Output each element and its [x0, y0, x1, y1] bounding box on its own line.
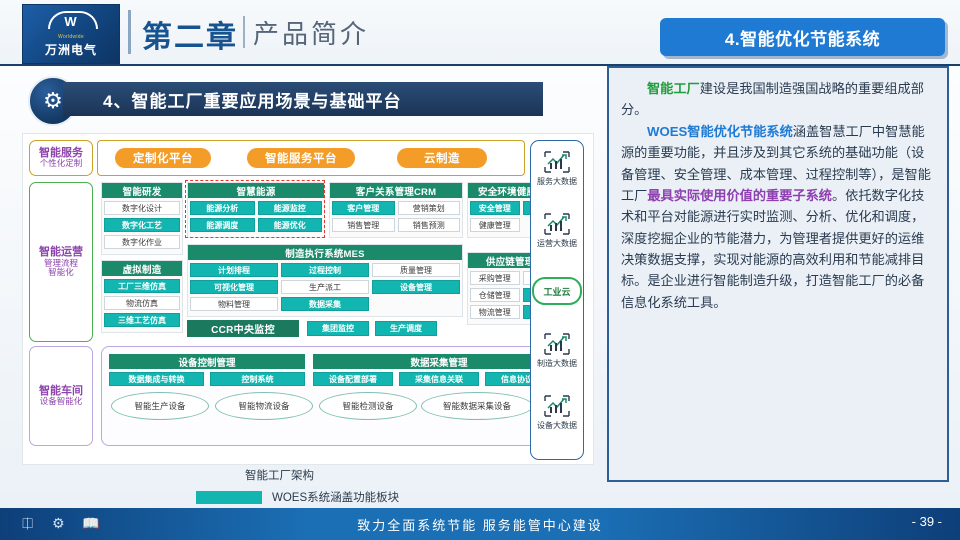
p2-highlight-purple: 最具实际使用价值的重要子系统	[647, 188, 832, 203]
device-oval[interactable]: 智能生产设备	[111, 392, 209, 420]
cell-label: 数据采集	[309, 299, 341, 310]
legend-label: WOES系统涵盖功能板块	[272, 489, 399, 505]
cell[interactable]: 数据采集	[281, 297, 369, 311]
rail-item-5[interactable]: 设备大数据	[531, 393, 583, 431]
cell[interactable]: 营销策划	[398, 201, 461, 215]
cell[interactable]: 数字化作业	[104, 235, 180, 249]
cell[interactable]: 可视化管理	[190, 280, 278, 294]
shop-cell-label: 采集信息关联	[415, 374, 463, 385]
cell[interactable]: 物料管理	[190, 297, 278, 311]
shop-cell-label: 数据集成与转换	[129, 374, 185, 385]
rail-item-2[interactable]: 运营大数据	[531, 211, 583, 249]
card-5: 制造执行系统MES计划排程过程控制质量管理可视化管理生产派工设备管理物料管理数据…	[187, 244, 463, 317]
card-0: 智能研发数字化设计数字化工艺数字化作业	[101, 182, 183, 255]
cell-label: 质量管理	[400, 265, 432, 276]
cell-label: 采购管理	[479, 273, 511, 284]
cell-label: 客户管理	[347, 203, 379, 214]
description-panel: 智能工厂建设是我国制造强国战略的重要组成部分。 WOES智能优化节能系统涵盖智慧…	[607, 66, 949, 482]
platform-pill-1[interactable]: 定制化平台	[115, 148, 211, 168]
level-sub: 设备智能化	[40, 397, 83, 407]
card-title: 制造执行系统MES	[285, 246, 364, 260]
shop-cell[interactable]: 设备配置部署	[313, 372, 393, 386]
section-heading-label: 4、智能工厂重要应用场景与基础平台	[103, 87, 401, 112]
rail-item-3[interactable]: 工业云	[531, 277, 583, 305]
card-title: 客户关系管理CRM	[356, 184, 436, 198]
legend-swatch	[196, 491, 262, 504]
big-data-rail: 服务大数据运营大数据工业云制造大数据设备大数据	[530, 140, 584, 460]
cell-label: 可视化管理	[214, 282, 254, 293]
rail-item-4[interactable]: 制造大数据	[531, 331, 583, 369]
card-title: 智能研发	[123, 184, 162, 198]
logo-english: Worldwide	[58, 34, 84, 40]
logo-mark-icon: W	[48, 11, 94, 33]
cell[interactable]: 设备管理	[372, 280, 460, 294]
device-oval[interactable]: 智能检测设备	[319, 392, 417, 420]
cell-label: 计划排程	[218, 265, 250, 276]
device-oval-label: 智能检测设备	[342, 400, 393, 412]
rail-item-label: 制造大数据	[537, 358, 577, 369]
bar-chart-icon	[542, 149, 572, 175]
cell[interactable]: 三维工艺仿真	[104, 313, 180, 327]
rail-item-label: 运营大数据	[537, 238, 577, 249]
cell[interactable]: 健康管理	[470, 218, 520, 232]
cell[interactable]: 销售预测	[398, 218, 461, 232]
cell-label: 物流仿真	[126, 298, 158, 309]
paragraph-2: WOES智能优化节能系统涵盖智慧工厂中智慧能源的重要功能，并且涉及到其它系统的基…	[621, 121, 935, 313]
level-label-1: 智能服务个性化定制	[29, 140, 93, 176]
platform-pill-2[interactable]: 智能服务平台	[247, 148, 355, 168]
card-header: 客户关系管理CRM	[330, 183, 462, 198]
p2-highlight-blue: WOES智能优化节能系统	[647, 124, 793, 139]
chapter-separator	[243, 16, 245, 48]
card-header: 智能研发	[102, 183, 182, 198]
smart-factory-diagram: 智能服务个性化定制智能运营管理流程智能化智能车间设备智能化定制化平台智能服务平台…	[22, 133, 594, 465]
card-1: 虚拟制造工厂三维仿真物流仿真三维工艺仿真	[101, 260, 183, 333]
cell-label: 设备管理	[400, 282, 432, 293]
device-oval-label: 智能物流设备	[238, 400, 289, 412]
card-header: 制造执行系统MES	[188, 245, 462, 260]
bar-chart-icon	[542, 211, 572, 237]
level-label-2: 智能运营管理流程智能化	[29, 182, 93, 342]
card-header: 虚拟制造	[102, 261, 182, 276]
smart-energy-highlight	[185, 180, 325, 238]
level-name: 智能运营	[39, 246, 83, 259]
ccr-cell[interactable]: 集团监控	[307, 321, 369, 336]
cell-label: 生产派工	[309, 282, 341, 293]
cell-label: 三维工艺仿真	[118, 315, 166, 326]
cell-label: 数字化工艺	[122, 220, 162, 231]
cell[interactable]: 过程控制	[281, 263, 369, 277]
device-oval-label: 智能生产设备	[134, 400, 185, 412]
device-oval[interactable]: 智能数据采集设备	[421, 392, 533, 420]
cell-label: 数字化作业	[122, 237, 162, 248]
ccr-cell[interactable]: 生产调度	[375, 321, 437, 336]
platform-pill-label: 定制化平台	[133, 150, 193, 166]
p1-highlight: 智能工厂	[647, 81, 700, 96]
cell[interactable]: 采购管理	[470, 271, 520, 285]
slide-root: W Worldwide 万洲电气 第二章 产品简介 4.智能优化节能系统 ⚙ 4…	[0, 0, 960, 540]
paragraph-1: 智能工厂建设是我国制造强国战略的重要组成部分。	[621, 78, 935, 121]
cell[interactable]: 物流仿真	[104, 296, 180, 310]
header-divider	[128, 10, 131, 54]
cell[interactable]: 物流管理	[470, 305, 520, 319]
level-sub: 智能化	[48, 268, 74, 278]
cell-label: 安全管理	[479, 203, 511, 214]
section-heading: 4、智能工厂重要应用场景与基础平台	[63, 82, 543, 116]
cell[interactable]: 销售管理	[332, 218, 395, 232]
logo-chinese: 万洲电气	[45, 41, 97, 58]
cell[interactable]: 数字化设计	[104, 201, 180, 215]
diagram-caption: 智能工厂架构	[245, 467, 314, 483]
cell[interactable]: 生产派工	[281, 280, 369, 294]
p2-text-b: 。依托数字化技术和平台对能源进行实时监测、分析、优化和调度，深度挖掘企业的节能潜…	[621, 188, 924, 310]
level-label-3: 智能车间设备智能化	[29, 346, 93, 446]
cell[interactable]: 仓储管理	[470, 288, 520, 302]
cell-label: 销售管理	[347, 220, 379, 231]
cell-label: 物流管理	[479, 307, 511, 318]
shop-title: 设备控制管理	[178, 355, 235, 369]
chapter-subtitle: 产品简介	[253, 14, 369, 51]
chapter-title: 第二章	[142, 12, 238, 56]
cell[interactable]: 工厂三维仿真	[104, 279, 180, 293]
cell[interactable]: 客户管理	[332, 201, 395, 215]
card-title: 虚拟制造	[123, 262, 162, 276]
platform-pill-3[interactable]: 云制造	[397, 148, 487, 168]
shop-cell[interactable]: 采集信息关联	[399, 372, 479, 386]
cell-label: 健康管理	[479, 220, 511, 231]
cell-label: 仓储管理	[479, 290, 511, 301]
shop-cell[interactable]: 控制系统	[210, 372, 305, 386]
ccr-cell-label: 生产调度	[390, 323, 422, 334]
ccr-title: CCR中央监控	[211, 321, 275, 336]
cell[interactable]: 数字化工艺	[104, 218, 180, 232]
cell-label: 过程控制	[309, 265, 341, 276]
shop-title: 数据采集管理	[410, 355, 467, 369]
platform-pill-label: 云制造	[424, 150, 460, 166]
topic-chip: 4.智能优化节能系统	[660, 18, 945, 56]
cell[interactable]: 质量管理	[372, 263, 460, 277]
level-sub: 个性化定制	[40, 159, 83, 169]
cell-label: 销售预测	[413, 220, 445, 231]
ccr-bar: CCR中央监控	[187, 320, 299, 337]
rail-item-label: 设备大数据	[537, 420, 577, 431]
cell-label: 工厂三维仿真	[118, 281, 166, 292]
device-oval-label: 智能数据采集设备	[443, 400, 511, 412]
cell[interactable]: 计划排程	[190, 263, 278, 277]
topic-chip-label: 4.智能优化节能系统	[725, 25, 880, 50]
cell-label: 数字化设计	[122, 203, 162, 214]
cell[interactable]: 安全管理	[470, 201, 520, 215]
rail-item-label: 服务大数据	[537, 176, 577, 187]
rail-item-1[interactable]: 服务大数据	[531, 149, 583, 187]
shop-header-0: 设备控制管理	[109, 354, 305, 369]
shop-cell-label: 设备配置部署	[329, 374, 377, 385]
bar-chart-icon	[542, 331, 572, 357]
rail-item-label: 工业云	[543, 285, 570, 298]
page-number: - 39 -	[912, 514, 942, 529]
cloud-icon: 工业云	[532, 277, 582, 305]
shop-cell[interactable]: 数据集成与转换	[109, 372, 204, 386]
cell-label: 物料管理	[218, 299, 250, 310]
shop-cell-label: 控制系统	[242, 374, 274, 385]
shop-header-1: 数据采集管理	[313, 354, 565, 369]
device-oval[interactable]: 智能物流设备	[215, 392, 313, 420]
card-3: 客户关系管理CRM客户管理营销策划销售管理销售预测	[329, 182, 463, 238]
platform-pill-label: 智能服务平台	[265, 150, 337, 166]
footer-slogan: 致力全面系统节能 服务能管中心建设	[0, 515, 960, 534]
company-logo: W Worldwide 万洲电气	[22, 4, 120, 64]
ccr-cell-label: 集团监控	[322, 323, 354, 334]
bar-chart-icon	[542, 393, 572, 419]
cell-label: 营销策划	[413, 203, 445, 214]
